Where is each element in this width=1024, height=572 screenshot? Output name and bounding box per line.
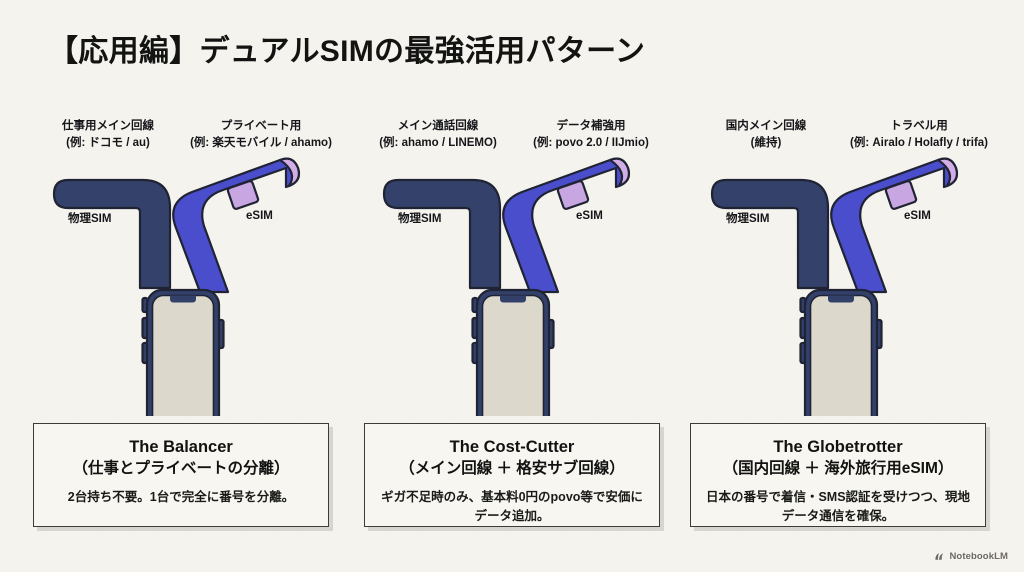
esim-tube [173,159,299,292]
caption-title-sub: （国内回線 ＋ 海外旅行用eSIM） [703,459,973,479]
smartphone-body [801,290,882,416]
physical-sim-tube [384,180,500,288]
pattern-caption-card: The Cost-Cutter （メイン回線 ＋ 格安サブ回線） ギガ不足時のみ… [364,423,660,527]
caption-title-main: The Balancer [129,438,233,456]
caption-body: 日本の番号で着信・SMS認証を受けつつ、現地データ通信を確保。 [703,488,973,526]
physical-sim-tube [712,180,828,288]
phone-notch [170,296,196,303]
physical-sim-tube [54,180,170,288]
page-title: 【応用編】デュアルSIMの最強活用パターン [48,26,645,70]
pattern-caption-card: The Balancer （仕事とプライベートの分離） 2台持ち不要。1台で完全… [33,423,329,527]
caption-body: 2台持ち不要。1台で完全に番号を分離。 [46,488,316,507]
caption-title-main: The Cost-Cutter [450,438,575,456]
esim-title: データ補強用 [557,120,626,132]
caption-body: ギガ不足時のみ、基本料0円のpovo等で安価にデータ追加。 [377,488,647,526]
physical-sim-title: 仕事用メイン回線 [62,120,154,132]
notebooklm-logo-icon [934,551,945,562]
dual-sim-phone-illustration [676,146,1006,416]
caption-title-sub: （メイン回線 ＋ 格安サブ回線） [377,459,647,479]
smartphone-body [143,290,224,416]
phone-screen [483,296,544,417]
caption-title-main: The Globetrotter [773,438,902,456]
caption-title: The Balancer （仕事とプライベートの分離） [46,437,316,479]
phone-notch [828,296,854,303]
physical-sim-title: 国内メイン回線 [726,120,807,132]
watermark-label: NotebookLM [949,551,1008,562]
pattern-caption-card: The Globetrotter （国内回線 ＋ 海外旅行用eSIM） 日本の番… [690,423,986,527]
notebooklm-watermark: NotebookLM [934,551,1008,562]
caption-title-sub: （仕事とプライベートの分離） [46,459,316,479]
pattern-column-globetrotter: 国内メイン回線 (維持) トラベル用 (例: Airalo / Holafly … [676,118,1006,418]
smartphone-body [473,290,554,416]
caption-title: The Globetrotter （国内回線 ＋ 海外旅行用eSIM） [703,437,973,479]
physical-sim-title: メイン通話回線 [398,120,479,132]
phone-notch [500,296,526,303]
esim-title: トラベル用 [890,120,948,132]
esim-tube [831,159,957,292]
dual-sim-phone-illustration [348,146,678,416]
esim-tube [503,159,629,292]
esim-title: プライベート用 [221,120,302,132]
phone-screen [153,296,214,417]
phone-screen [811,296,872,417]
pattern-column-cost-cutter: メイン通話回線 (例: ahamo / LINEMO) データ補強用 (例: p… [348,118,678,418]
caption-title: The Cost-Cutter （メイン回線 ＋ 格安サブ回線） [377,437,647,479]
dual-sim-phone-illustration [18,146,348,416]
slide-canvas: 【応用編】デュアルSIMの最強活用パターン 仕事用メイン回線 (例: ドコモ /… [0,0,1024,572]
pattern-column-balancer: 仕事用メイン回線 (例: ドコモ / au) プライベート用 (例: 楽天モバイ… [18,118,348,418]
